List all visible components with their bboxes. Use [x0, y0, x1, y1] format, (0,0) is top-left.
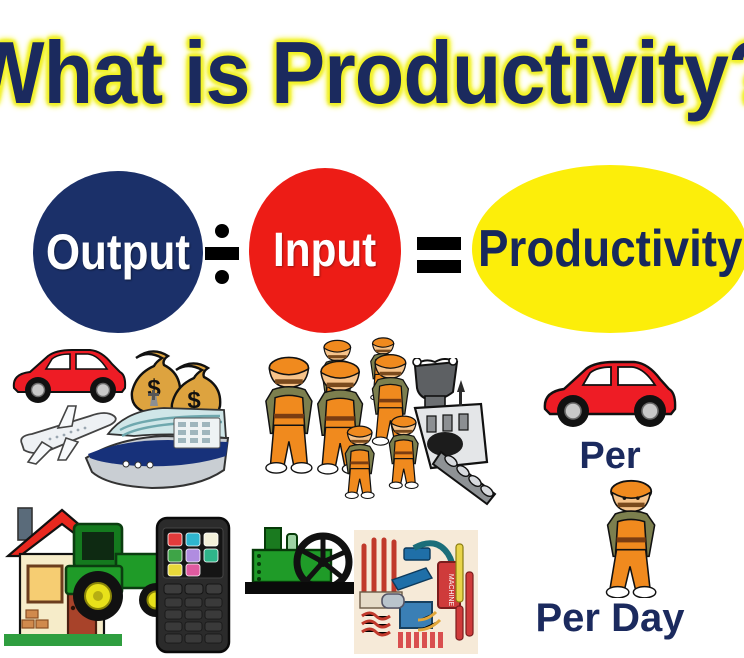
equals-bar-bottom — [417, 260, 461, 273]
worker-icon — [588, 476, 674, 598]
formula-row: Output Input Productivity — [0, 165, 744, 337]
green-engine-icon — [245, 520, 363, 602]
input-bubble: Input — [249, 168, 401, 333]
divide-bar — [205, 247, 239, 260]
per-label: Per — [520, 437, 700, 475]
divide-operator-icon — [205, 221, 239, 287]
equals-operator-icon — [417, 237, 461, 273]
per-day-label: Per Day — [510, 598, 710, 638]
cruise-ship-icon — [78, 388, 230, 498]
title-block: What is Productivity? — [0, 8, 744, 138]
red-car-icon — [538, 354, 678, 432]
factory-machinery-icon: MACHINE — [352, 528, 480, 656]
output-bubble: Output — [33, 171, 203, 333]
productivity-bubble: Productivity — [472, 165, 744, 333]
productivity-label: Productivity — [478, 223, 742, 275]
input-label: Input — [273, 227, 376, 275]
output-label: Output — [46, 227, 190, 277]
equals-bar-top — [417, 237, 461, 250]
svg-text:MACHINE: MACHINE — [447, 574, 454, 607]
mobile-phone-icon — [154, 516, 232, 654]
infographic-page: What is Productivity? Output Input Produ… — [0, 0, 744, 658]
page-title: What is Productivity? — [0, 29, 744, 117]
furnace-conveyor-icon — [395, 358, 501, 508]
divide-dot-bottom — [215, 270, 229, 284]
divide-dot-top — [215, 224, 229, 238]
